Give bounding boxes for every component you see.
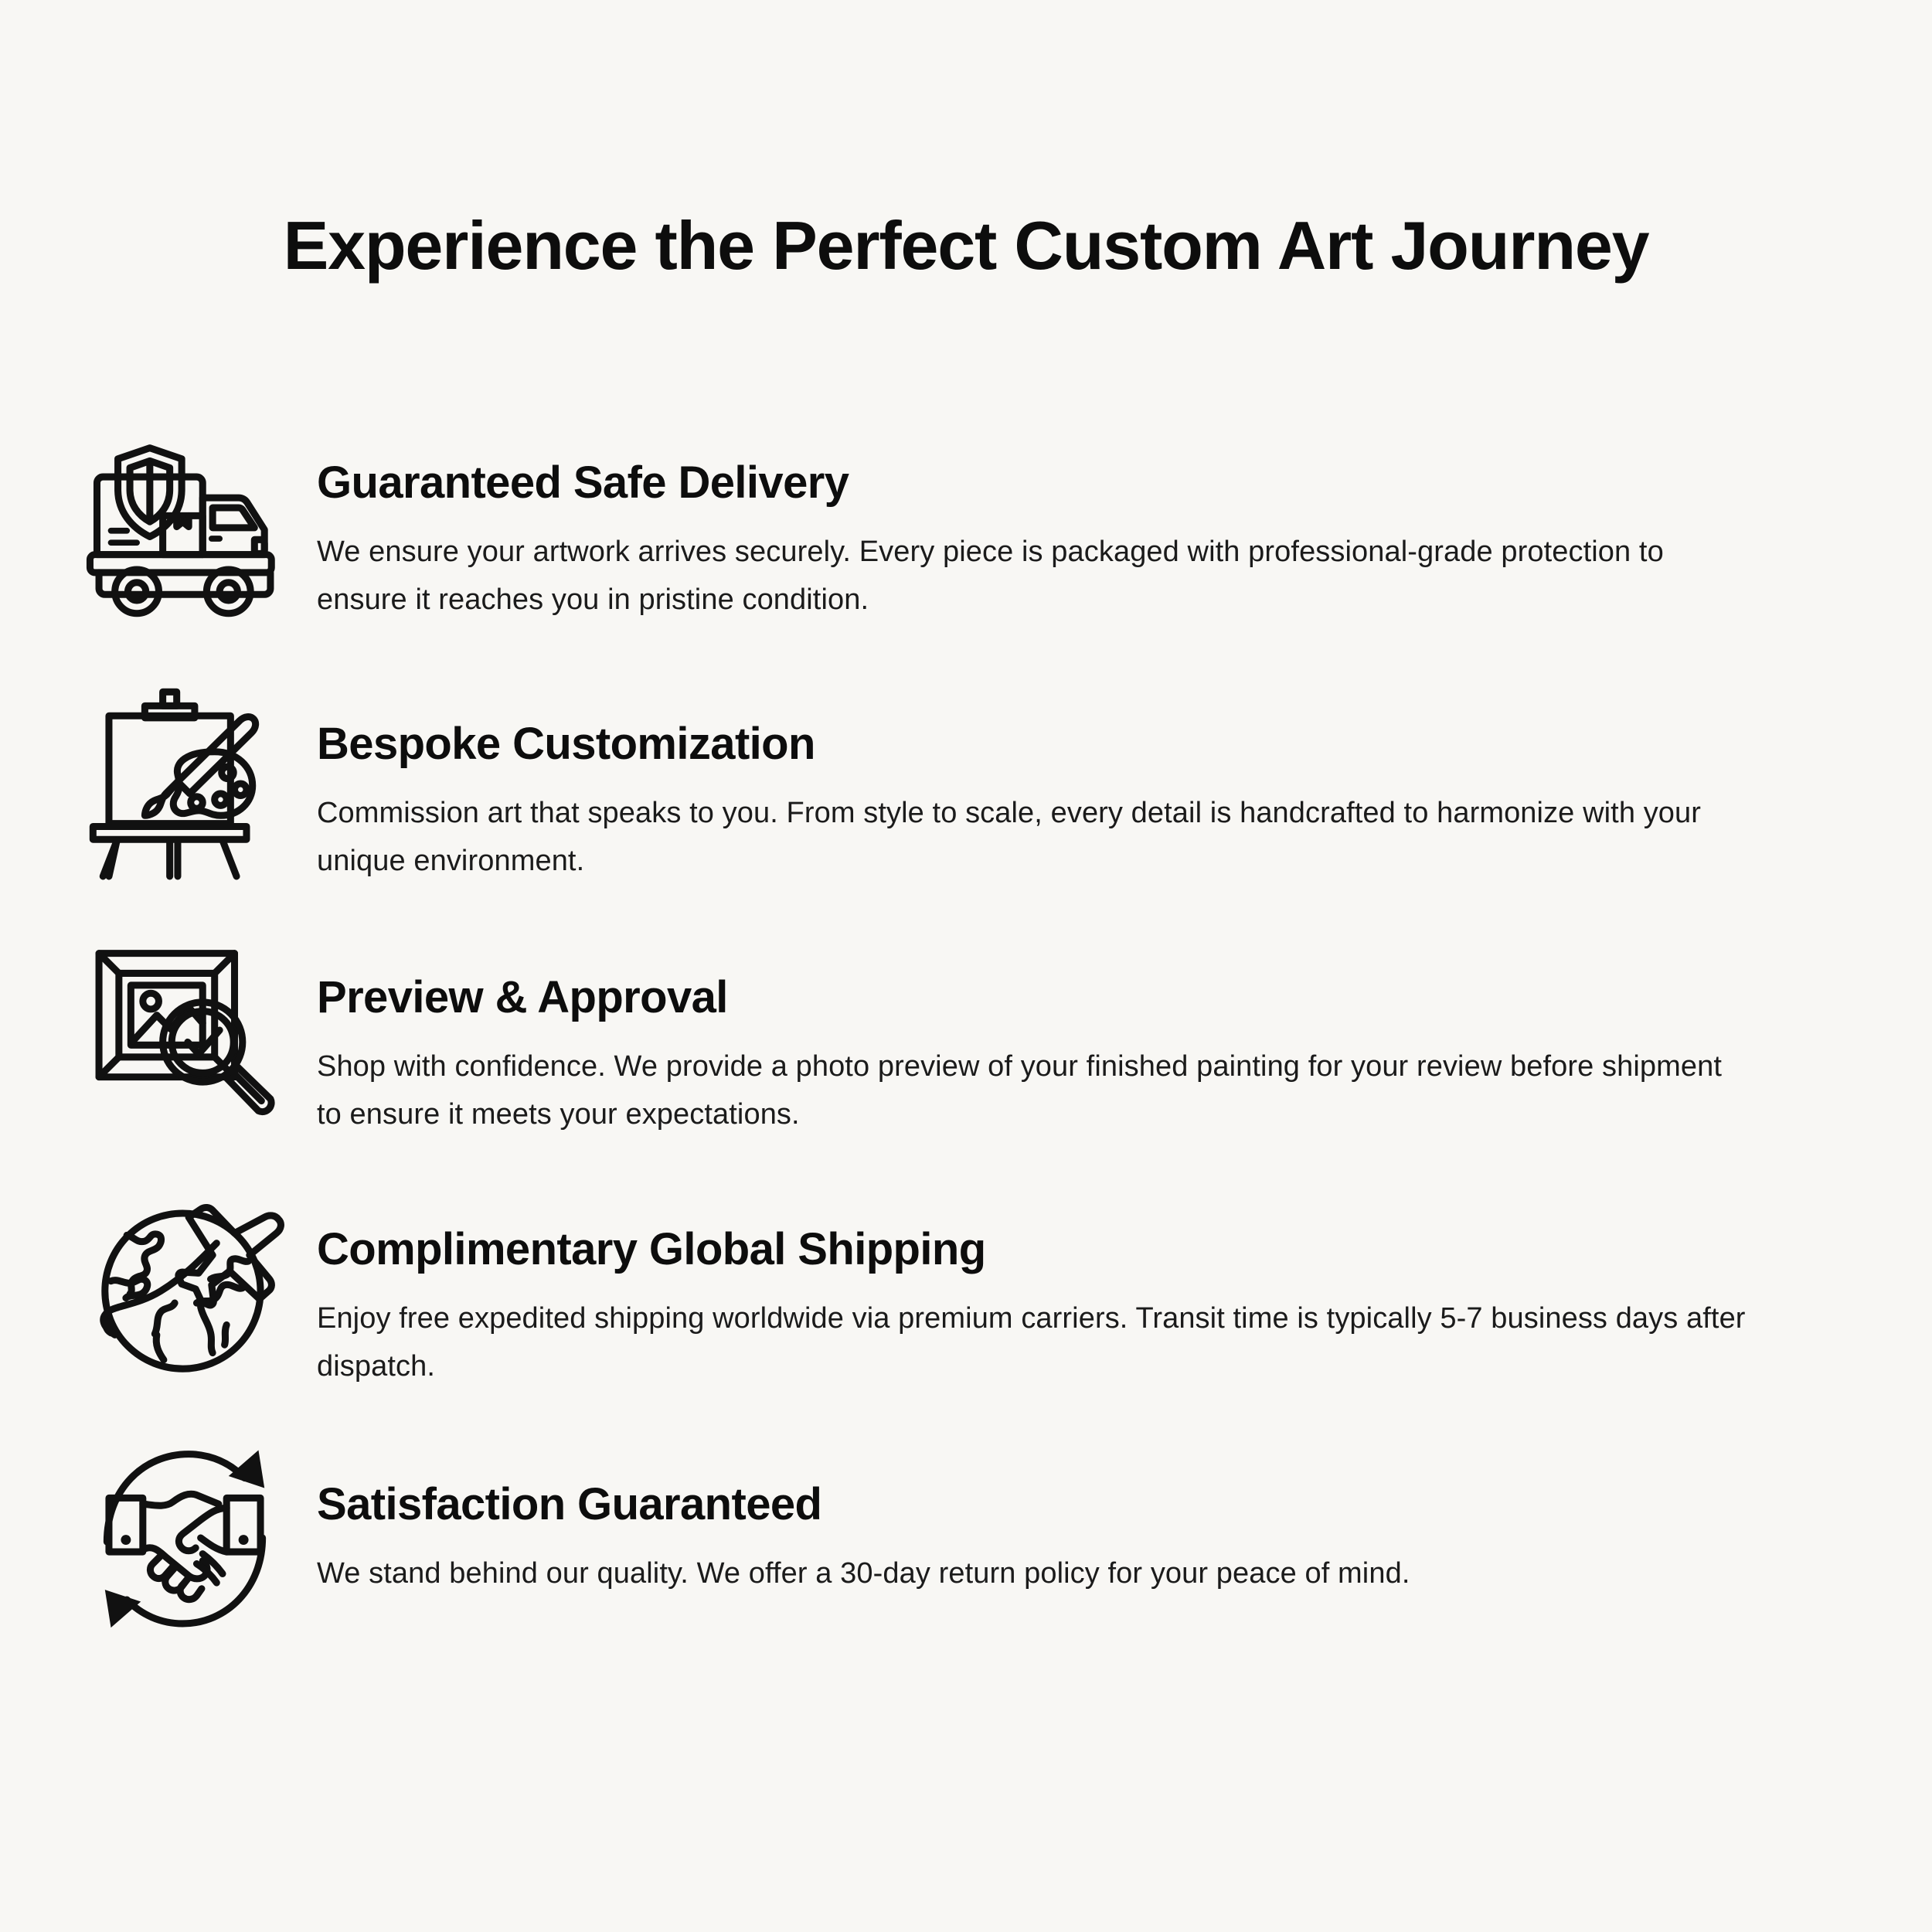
delivery-truck-shield-icon xyxy=(85,429,317,630)
feature-heading: Guaranteed Safe Delivery xyxy=(317,458,1855,509)
feature-item-global-shipping: Complimentary Global Shipping Enjoy free… xyxy=(0,1186,1932,1390)
feature-heading: Bespoke Customization xyxy=(317,719,1855,770)
custom-art-journey-section: Experience the Perfect Custom Art Journe… xyxy=(0,0,1932,1932)
feature-heading: Preview & Approval xyxy=(317,973,1855,1023)
feature-item-safe-delivery: Guaranteed Safe Delivery We ensure your … xyxy=(0,429,1932,630)
feature-list: Guaranteed Safe Delivery We ensure your … xyxy=(0,429,1932,1636)
globe-airplane-icon xyxy=(85,1186,317,1387)
page-title: Experience the Perfect Custom Art Journe… xyxy=(0,210,1932,281)
feature-heading: Complimentary Global Shipping xyxy=(317,1225,1855,1275)
feature-text-block: Bespoke Customization Commission art tha… xyxy=(317,681,1932,885)
feature-item-satisfaction-guaranteed: Satisfaction Guaranteed We stand behind … xyxy=(0,1435,1932,1636)
handshake-refresh-arrows-icon xyxy=(85,1435,317,1636)
feature-description: Enjoy free expedited shipping worldwide … xyxy=(317,1295,1785,1390)
feature-item-preview-approval: Preview & Approval Shop with confidence.… xyxy=(0,934,1932,1138)
feature-text-block: Preview & Approval Shop with confidence.… xyxy=(317,934,1932,1138)
feature-text-block: Complimentary Global Shipping Enjoy free… xyxy=(317,1186,1932,1390)
feature-item-bespoke-customization: Bespoke Customization Commission art tha… xyxy=(0,681,1932,885)
feature-text-block: Guaranteed Safe Delivery We ensure your … xyxy=(317,429,1932,624)
feature-description: Shop with confidence. We provide a photo… xyxy=(317,1043,1731,1138)
framed-picture-magnifier-check-icon xyxy=(85,934,317,1135)
easel-palette-brush-icon xyxy=(85,681,317,882)
feature-description: Commission art that speaks to you. From … xyxy=(317,790,1731,885)
feature-text-block: Satisfaction Guaranteed We stand behind … xyxy=(317,1435,1932,1598)
feature-description: We stand behind our quality. We offer a … xyxy=(317,1550,1855,1598)
feature-heading: Satisfaction Guaranteed xyxy=(317,1480,1855,1530)
feature-description: We ensure your artwork arrives securely.… xyxy=(317,529,1731,624)
